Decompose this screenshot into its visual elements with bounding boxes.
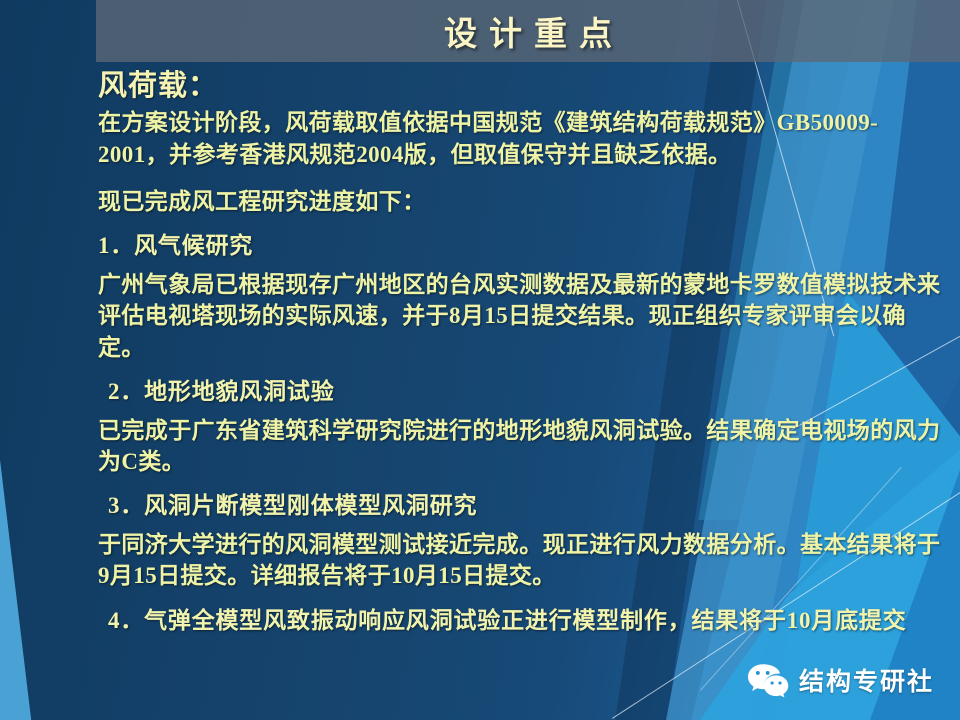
presentation-slide: 设计重点 风荷载： 在方案设计阶段，风荷载取值依据中国规范《建筑结构荷载规范》G…	[0, 0, 960, 720]
slide-title-band: 设计重点	[96, 0, 960, 62]
list-item-4-number: 4．	[108, 608, 144, 633]
section-heading: 风荷载：	[98, 70, 946, 103]
list-item-1-number: 1．	[98, 233, 134, 258]
list-item-3-label: 风洞片断模型刚体模型风洞研究	[144, 493, 477, 518]
list-item-4-title: 4．气弹全模型风致振动响应风洞试验正进行模型制作，结果将于10月底提交	[98, 606, 946, 636]
list-item-2-label: 地形地貌风洞试验	[144, 379, 334, 404]
list-item-2-number: 2．	[108, 379, 144, 404]
wechat-icon	[747, 663, 789, 697]
list-item-3-body: 于同济大学进行的风洞模型测试接近完成。现正进行风力数据分析。基本结果将于9月15…	[98, 529, 946, 592]
list-item-2-body: 已完成于广东省建筑科学研究院进行的地形地貌风洞试验。结果确定电视场的风力为C类。	[98, 415, 946, 478]
intro-paragraph: 在方案设计阶段，风荷载取值依据中国规范《建筑结构荷载规范》GB50009-200…	[98, 107, 946, 170]
slide-content: 风荷载： 在方案设计阶段，风荷载取值依据中国规范《建筑结构荷载规范》GB5000…	[98, 66, 946, 636]
list-item-1-title: 1．风气候研究	[98, 231, 946, 261]
watermark-label: 结构专研社	[799, 662, 934, 698]
list-item-3-number: 3．	[108, 493, 144, 518]
watermark: 结构专研社	[747, 662, 934, 698]
progress-lead-paragraph: 现已完成风工程研究进度如下：	[98, 186, 946, 217]
list-item-1-body: 广州气象局已根据现存广州地区的台风实测数据及最新的蒙地卡罗数值模拟技术来评估电视…	[98, 269, 946, 363]
list-item-2-title: 2．地形地貌风洞试验	[98, 377, 946, 407]
list-item-4-label: 气弹全模型风致振动响应风洞试验正进行模型制作，结果将于10月底提交	[144, 608, 906, 633]
slide-title: 设计重点	[432, 7, 624, 55]
list-item-3-title: 3．风洞片断模型刚体模型风洞研究	[98, 491, 946, 521]
list-item-1-label: 风气候研究	[134, 233, 253, 258]
